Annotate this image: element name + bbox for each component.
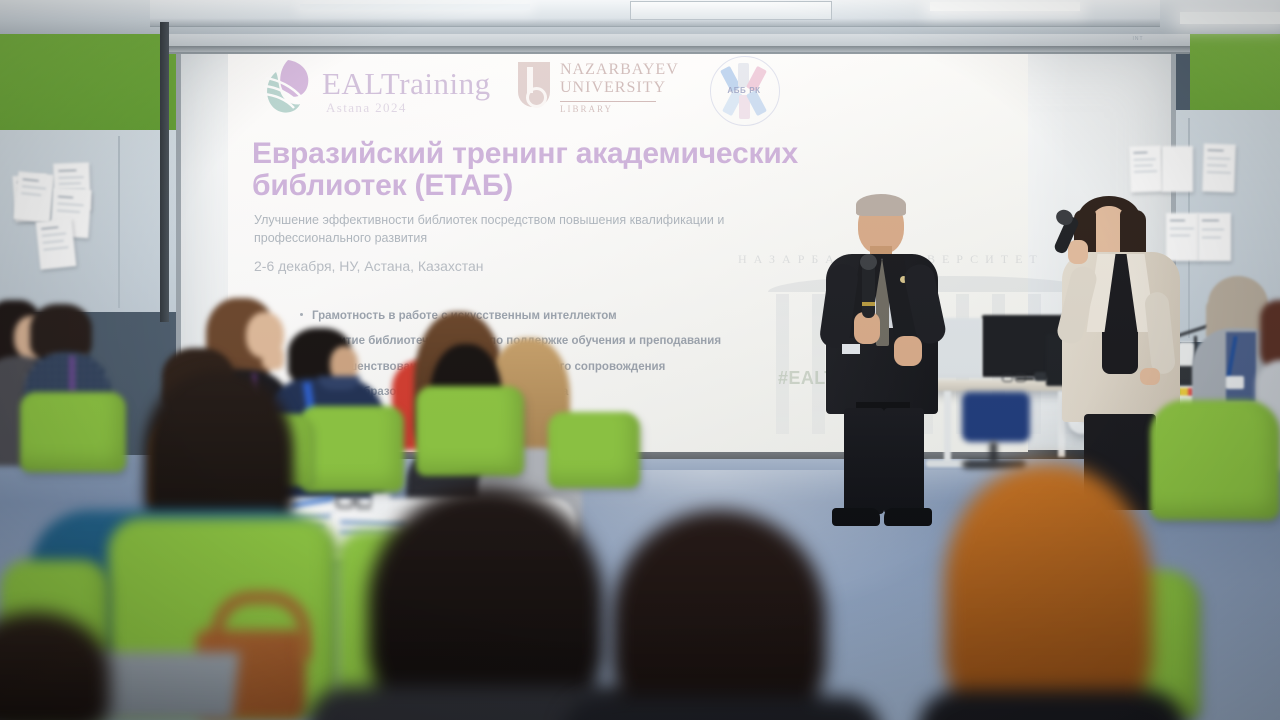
trousers — [844, 408, 884, 514]
eyeglasses-icon — [336, 494, 372, 505]
lanyard — [70, 356, 74, 392]
ceiling-panel — [630, 1, 832, 20]
trousers — [884, 408, 924, 514]
nu-monogram-icon — [518, 62, 550, 107]
slide-title: Евразийский тренинг академических библио… — [252, 138, 832, 203]
wall-paper — [1198, 213, 1231, 261]
handbag-strap — [212, 592, 310, 659]
hair — [944, 464, 1152, 720]
microphone-band — [862, 302, 875, 306]
eyeglasses-icon — [1002, 374, 1026, 381]
wall-paper — [1166, 213, 1199, 261]
slide-bullet: Грамотность в работе с искусственным инт… — [298, 304, 888, 330]
housing-model-label: INT — [1118, 36, 1158, 44]
ealtraining-subtitle: Astana 2024 — [326, 100, 407, 116]
hand — [894, 336, 922, 366]
hand — [1140, 368, 1160, 385]
nu-line3: LIBRARY — [560, 104, 613, 114]
nu-line2: UNIVERSITY — [560, 79, 666, 97]
ceiling-light — [930, 2, 1080, 11]
torso — [562, 696, 882, 720]
wall-paper — [1202, 143, 1236, 192]
slide-subtitle: Улучшение эффективности библиотек посред… — [254, 212, 834, 248]
office-chair-back — [962, 392, 1030, 442]
slide-logo-row: EALTraining Astana 2024 NAZARBAYEV UNIVE… — [250, 52, 810, 130]
screen-wall-edge — [160, 22, 169, 322]
slide-date-line: 2-6 декабря, НУ, Астана, Казахстан — [254, 258, 754, 274]
wall-seam-left — [118, 136, 120, 308]
hair — [856, 194, 906, 216]
chair — [416, 386, 524, 476]
shirt-cuff — [842, 344, 860, 354]
wall-paper — [14, 171, 55, 223]
chair — [20, 392, 126, 472]
torso — [918, 690, 1186, 720]
chair — [548, 412, 640, 488]
green-wall-left — [0, 22, 180, 144]
slide-bullet: Развитие библиотечных услуг по поддержке… — [298, 329, 888, 355]
chair — [1150, 400, 1280, 520]
housing-shadow — [168, 46, 1190, 53]
microphone-icon — [862, 262, 875, 318]
ealtraining-mark-icon — [258, 56, 320, 118]
ealtraining-wordmark: EALTraining — [322, 66, 491, 102]
shoe — [884, 508, 932, 526]
hair — [368, 486, 604, 720]
badge — [1226, 376, 1244, 389]
ceiling-light — [1180, 12, 1280, 24]
presentation-room-photo: НАЗАРБАЕВ УНИВЕРСИТЕТ EALTraining Astana… — [0, 0, 1280, 720]
hand — [1068, 240, 1088, 264]
microphone-head — [860, 254, 877, 270]
ceiling-light — [300, 4, 530, 10]
abb-rk-label: АББ РК — [710, 86, 778, 95]
desk-leg — [944, 391, 951, 463]
cup — [372, 492, 390, 516]
shoe — [832, 508, 880, 526]
wall-paper — [1162, 146, 1193, 192]
nu-line1: NAZARBAYEV — [560, 61, 679, 79]
chair — [300, 406, 404, 492]
wall-paper — [36, 218, 77, 270]
wall-paper — [1129, 145, 1163, 192]
nazarbayev-university-library-logo: NAZARBAYEV UNIVERSITY LIBRARY — [518, 58, 688, 124]
hand — [262, 346, 284, 370]
nu-divider — [560, 101, 656, 102]
hair — [612, 510, 826, 720]
